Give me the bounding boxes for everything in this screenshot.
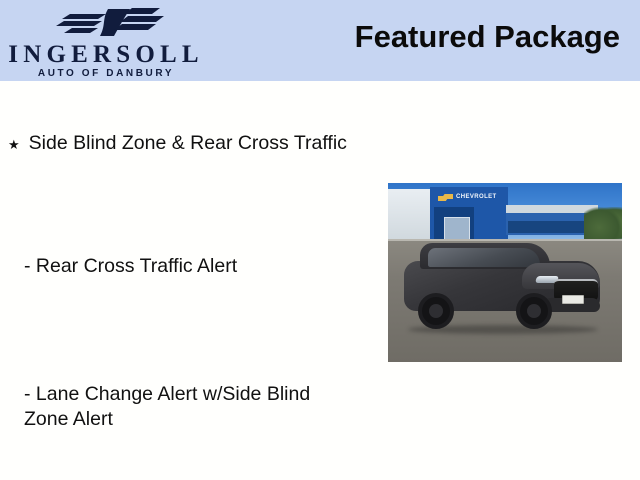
sub-bullet-item-2: - Lane Change Alert w/Side Blind Zone Al…	[24, 382, 360, 432]
sub-bullet-item-1: - Rear Cross Traffic Alert	[24, 254, 364, 279]
vehicle-rear-wheel	[418, 293, 454, 329]
star-bullet-icon: ★	[8, 131, 20, 157]
page-title: Featured Package	[355, 19, 620, 55]
brand-wordmark: INGERSOLL	[6, 42, 206, 67]
photo-trees	[584, 207, 622, 241]
photo-vehicle-suv	[404, 243, 600, 325]
brand-tagline: AUTO OF DANBURY	[6, 69, 206, 79]
dealer-sign-label: CHEVROLET	[456, 194, 497, 200]
photo-building-glazing	[508, 221, 594, 233]
vehicle-license-plate	[562, 295, 584, 304]
presentation-slide: INGERSOLL AUTO OF DANBURY Featured Packa…	[0, 0, 640, 480]
ingersoll-wings-emblem-icon	[48, 5, 166, 39]
vehicle-glass	[428, 248, 540, 267]
vehicle-front-wheel	[516, 293, 552, 329]
slide-header-band: INGERSOLL AUTO OF DANBURY Featured Packa…	[0, 0, 640, 81]
bullet-item-label: Side Blind Zone & Rear Cross Traffic	[29, 131, 347, 156]
vehicle-photo: CHEVROLET	[388, 183, 622, 362]
bullet-item-primary: ★ Side Blind Zone & Rear Cross Traffic	[8, 131, 378, 157]
brand-logo-block: INGERSOLL AUTO OF DANBURY	[6, 2, 206, 80]
